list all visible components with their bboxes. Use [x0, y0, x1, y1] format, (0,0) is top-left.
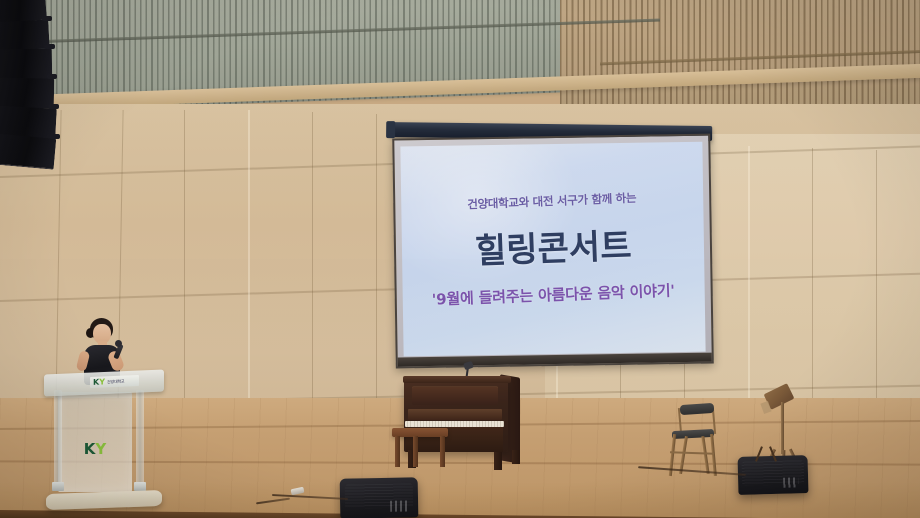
microphone-head	[115, 340, 122, 347]
nameplate-mark: KY	[93, 378, 105, 387]
speaker-module	[0, 19, 50, 52]
monitor-badge	[783, 477, 799, 487]
bench-leg	[395, 436, 400, 467]
speaker-module	[0, 133, 56, 169]
stage-photograph: 건양대학교와 대전 서구가 함께 하는 힐링콘서트 '9월에 들려주는 아름다운…	[0, 0, 920, 518]
piano-bench	[392, 428, 448, 468]
nameplate-letter-y: Y	[99, 377, 105, 386]
piano-leg	[494, 452, 502, 470]
podium: KY KY 건양대학교	[44, 372, 164, 508]
speaker-bracket	[42, 16, 52, 21]
piano-leg	[512, 450, 520, 464]
speaker-module	[0, 77, 54, 109]
chair-crossbar	[670, 451, 714, 455]
line-array-speaker	[0, 0, 62, 170]
folding-chair	[668, 404, 718, 476]
wall-seam	[184, 110, 185, 410]
slide-subtitle-text: '9월에 들려주는 아름다운 음악 이야기'	[432, 279, 676, 309]
chair-backrest	[680, 403, 715, 415]
chair-leg	[710, 434, 716, 476]
floor-monitor-right	[738, 455, 809, 495]
podium-post-cap	[52, 482, 64, 491]
bench-leg	[440, 436, 445, 467]
speaker-bracket	[45, 44, 55, 49]
screen-frame: 건양대학교와 대전 서구가 함께 하는 힐링콘서트 '9월에 들려주는 아름다운…	[392, 134, 714, 369]
logo-letter-k: K	[84, 440, 96, 458]
podium-post	[136, 390, 144, 488]
podium-logo-text: KY	[84, 442, 107, 457]
speaker-bracket	[49, 104, 59, 109]
piano-upper-panel	[412, 386, 498, 405]
wall-seam	[876, 150, 877, 440]
monitor-badge	[390, 501, 407, 512]
screen-surface: 건양대학교와 대전 서구가 함께 하는 힐링콘서트 '9월에 들려주는 아름다운…	[400, 142, 705, 357]
podium-nameplate: KY 건양대학교	[90, 375, 139, 388]
nameplate-university-text: 건양대학교	[107, 379, 124, 384]
podium-base	[46, 490, 162, 510]
wall-seam	[376, 114, 377, 414]
speaker-module	[0, 48, 52, 80]
speaker-bracket	[50, 134, 60, 139]
podium-logo: KY	[78, 438, 112, 460]
piano-lid	[403, 376, 511, 383]
chair-leg	[701, 436, 709, 474]
speaker-bracket	[47, 74, 57, 79]
wall-seam	[748, 146, 750, 436]
piano-fallboard	[408, 409, 502, 420]
logo-letter-y: Y	[95, 440, 106, 458]
bench-leg	[413, 436, 418, 467]
wall-seam	[812, 148, 813, 438]
screen-housing-endcap	[386, 121, 395, 138]
wall-seam	[248, 110, 250, 410]
wall-seam	[312, 112, 313, 412]
music-stand-pole	[781, 402, 784, 454]
podium-post	[54, 390, 62, 488]
floor-monitor-center	[340, 477, 419, 518]
slide-title-text: 힐링콘서트	[474, 218, 632, 273]
projection-screen: 건양대학교와 대전 서구가 함께 하는 힐링콘서트 '9월에 들려주는 아름다운…	[390, 121, 724, 376]
slide-eyebrow-text: 건양대학교와 대전 서구가 함께 하는	[467, 190, 637, 213]
chair-seat	[672, 429, 714, 439]
